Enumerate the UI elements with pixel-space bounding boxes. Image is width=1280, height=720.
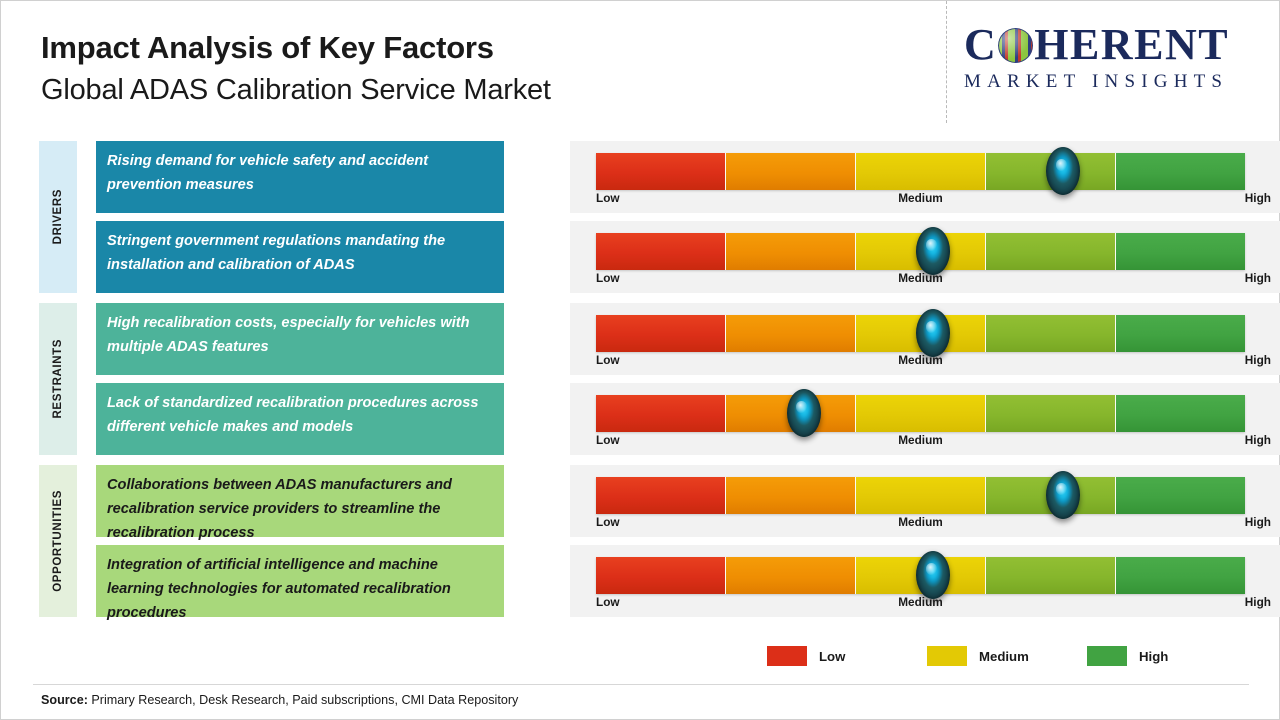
factor-card[interactable]: Rising demand for vehicle safety and acc… [96,141,504,213]
factor-row: Collaborations between ADAS manufacturer… [96,465,1244,537]
source-text: Primary Research, Desk Research, Paid su… [88,693,518,707]
gauge-segment-5 [1116,233,1245,270]
category-label-text: OPPORTUNITIES [52,490,64,592]
gauge-segment-5 [1116,557,1245,594]
source-note: Source: Primary Research, Desk Research,… [41,693,518,707]
factor-text: Collaborations between ADAS manufacturer… [107,474,493,545]
gauge-segment-5 [1116,395,1245,432]
gauge-segment-1 [596,477,726,514]
coherent-market-insights-logo: C HERENT MARKET INSIGHTS [964,23,1264,93]
scale-label-low: Low [596,191,620,205]
gauge-scale: LowMediumHigh [596,271,1245,291]
gauge-scale: LowMediumHigh [596,515,1245,535]
gauge-segment-1 [596,153,726,190]
impact-gauge: LowMediumHigh [570,383,1280,455]
logo-letters-herent: HERENT [1034,23,1229,67]
footer-divider [33,684,1249,685]
category-rows: Collaborations between ADAS manufacturer… [96,465,1244,617]
factor-card[interactable]: Stringent government regulations mandati… [96,221,504,293]
gauge-segment-5 [1116,477,1245,514]
impact-gauge: LowMediumHigh [570,303,1280,375]
title-subtitle: Global ADAS Calibration Service Market [41,74,551,107]
gauge-segment-3 [856,477,986,514]
gauge-segment-2 [726,233,856,270]
legend-label: High [1139,649,1168,664]
gauge-segment-1 [596,233,726,270]
gauge-bar[interactable] [596,477,1245,514]
scale-label-medium: Medium [898,515,943,529]
gauge-bar[interactable] [596,153,1245,190]
globe-icon [998,28,1033,63]
legend-swatch-low [767,646,807,666]
category-band-drivers: DRIVERSRising demand for vehicle safety … [39,141,1244,293]
page-title: Impact Analysis of Key Factors Global AD… [41,31,551,107]
logo-wordmark: C HERENT [964,23,1264,67]
gauge-segment-1 [596,395,726,432]
gauge-segment-2 [726,153,856,190]
legend-swatch-medium [927,646,967,666]
gauge-segment-5 [1116,153,1245,190]
scale-label-low: Low [596,515,620,529]
impact-gauge: LowMediumHigh [570,141,1280,213]
legend-item-low[interactable]: Low [767,646,927,666]
impact-gauge: LowMediumHigh [570,465,1280,537]
logo-tagline: MARKET INSIGHTS [964,71,1264,93]
scale-label-low: Low [596,271,620,285]
scale-label-low: Low [596,353,620,367]
logo-letter-c: C [964,23,997,67]
gauge-segment-3 [856,153,986,190]
scale-label-medium: Medium [898,271,943,285]
gauge-segment-4 [986,557,1116,594]
category-label-restraints: RESTRAINTS [39,303,77,455]
scale-label-high: High [1245,191,1271,205]
gauge-segment-2 [726,315,856,352]
scale-label-low: Low [596,433,620,447]
gauge-marker[interactable] [787,389,821,437]
factors-grid: DRIVERSRising demand for vehicle safety … [39,141,1244,627]
factor-card[interactable]: Lack of standardized recalibration proce… [96,383,504,455]
gauge-segment-5 [1116,315,1245,352]
category-rows: High recalibration costs, especially for… [96,303,1244,455]
scale-label-high: High [1245,353,1271,367]
category-label-drivers: DRIVERS [39,141,77,293]
factor-text: High recalibration costs, especially for… [107,312,493,360]
factor-text: Lack of standardized recalibration proce… [107,392,493,440]
category-label-opportunities: OPPORTUNITIES [39,465,77,617]
gauge-scale: LowMediumHigh [596,191,1245,211]
gauge-segment-4 [986,395,1116,432]
scale-label-medium: Medium [898,433,943,447]
scale-label-medium: Medium [898,595,943,609]
scale-label-high: High [1245,515,1271,529]
category-label-text: RESTRAINTS [52,339,64,418]
factor-row: High recalibration costs, especially for… [96,303,1244,375]
gauge-scale: LowMediumHigh [596,595,1245,615]
factor-row: Rising demand for vehicle safety and acc… [96,141,1244,213]
legend-item-medium[interactable]: Medium [927,646,1087,666]
legend-label: Medium [979,649,1029,664]
category-rows: Rising demand for vehicle safety and acc… [96,141,1244,293]
gauge-segment-1 [596,315,726,352]
gauge-segment-2 [726,477,856,514]
category-band-opportunities: OPPORTUNITIESCollaborations between ADAS… [39,465,1244,617]
scale-label-medium: Medium [898,353,943,367]
scale-label-medium: Medium [898,191,943,205]
factor-row: Lack of standardized recalibration proce… [96,383,1244,455]
title-main: Impact Analysis of Key Factors [41,31,551,65]
category-band-restraints: RESTRAINTSHigh recalibration costs, espe… [39,303,1244,455]
header-dashed-divider [946,1,947,123]
slide-canvas: Impact Analysis of Key Factors Global AD… [0,0,1280,720]
source-label: Source: [41,693,88,707]
scale-label-high: High [1245,433,1271,447]
scale-label-high: High [1245,595,1271,609]
factor-text: Integration of artificial intelligence a… [107,554,493,625]
impact-legend: LowMediumHigh [767,646,1247,666]
gauge-segment-4 [986,233,1116,270]
gauge-segment-2 [726,557,856,594]
gauge-scale: LowMediumHigh [596,353,1245,373]
gauge-segment-4 [986,315,1116,352]
gauge-segment-3 [856,395,986,432]
factor-card[interactable]: Collaborations between ADAS manufacturer… [96,465,504,537]
scale-label-low: Low [596,595,620,609]
factor-card[interactable]: Integration of artificial intelligence a… [96,545,504,617]
gauge-scale: LowMediumHigh [596,433,1245,453]
factor-row: Integration of artificial intelligence a… [96,545,1244,617]
impact-gauge: LowMediumHigh [570,545,1280,617]
scale-label-high: High [1245,271,1271,285]
legend-swatch-high [1087,646,1127,666]
impact-gauge: LowMediumHigh [570,221,1280,293]
category-label-text: DRIVERS [52,189,64,244]
gauge-bar[interactable] [596,395,1245,432]
gauge-segment-1 [596,557,726,594]
factor-card[interactable]: High recalibration costs, especially for… [96,303,504,375]
factor-text: Rising demand for vehicle safety and acc… [107,150,493,198]
factor-text: Stringent government regulations mandati… [107,230,493,278]
legend-label: Low [819,649,845,664]
factor-row: Stringent government regulations mandati… [96,221,1244,293]
legend-item-high[interactable]: High [1087,646,1247,666]
